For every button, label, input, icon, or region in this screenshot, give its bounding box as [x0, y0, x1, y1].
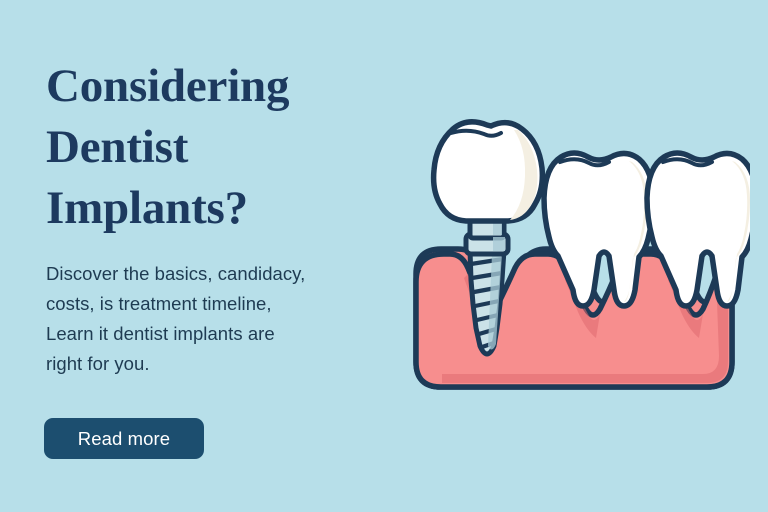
read-more-button[interactable]: Read more [44, 418, 204, 459]
page-title: Considering Dentist Implants? [46, 56, 396, 239]
implant-crown [434, 122, 543, 221]
subtitle-text: Discover the basics, candidacy, costs, i… [46, 239, 396, 379]
dental-implants-banner: Considering Dentist Implants? Discover t… [0, 0, 768, 512]
text-column: Considering Dentist Implants? Discover t… [46, 56, 396, 379]
dental-implant-illustration [398, 104, 750, 404]
